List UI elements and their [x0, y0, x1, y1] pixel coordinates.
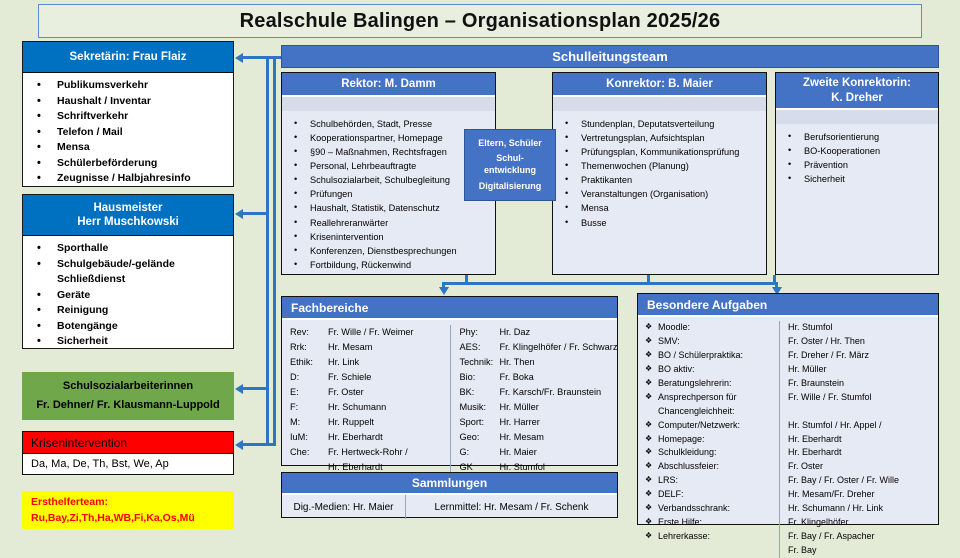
list-item: LRS: — [638, 474, 779, 488]
zweite-konrektorin-header: Zweite Konrektorin: K. Dreher — [776, 73, 938, 108]
list-item: Reallehreranwärter — [282, 216, 495, 230]
list-item: Schriftverkehr — [23, 109, 233, 125]
list-item: Beratungslehrerin: — [638, 377, 779, 391]
ersthelferteam-members: Ru,Bay,Zi,Th,Ha,WB,Fi,Ka,Os,Mü — [31, 510, 233, 526]
list-item: Krisenintervention — [282, 230, 495, 244]
list-item-value: Fr. Dreher / Fr. März — [788, 349, 938, 363]
besondere-aufgaben-tasks: Moodle: SMV: BO / Schülerpraktika: BO ak… — [638, 321, 780, 558]
list-item-value: Hr. Müller — [788, 363, 938, 377]
list-item: Botengänge — [23, 319, 233, 335]
list-item: Busse — [553, 216, 766, 230]
table-row: AES:Fr. Klingelhöfer / Fr. Schwarz — [460, 340, 618, 355]
konrektor-list: Stundenplan, Deputatsverteilung Vertretu… — [553, 111, 766, 230]
fachbereiche-columns: Rev:Fr. Wille / Fr. Weimer Rrk:Hr. Mesam… — [282, 320, 617, 490]
fachbereiche-column-right: Phy:Hr. Daz AES:Fr. Klingelhöfer / Fr. S… — [450, 325, 618, 490]
list-item: Computer/Netzwerk: — [638, 419, 779, 433]
list-item: SMV: — [638, 335, 779, 349]
list-item: Schließdienst — [23, 272, 233, 288]
ersthelferteam-title: Ersthelferteam: — [31, 494, 233, 510]
connector-krise-riser — [273, 56, 276, 446]
hausmeister-header-line2: Herr Muschkowski — [77, 215, 179, 229]
organigram-canvas: Realschule Balingen – Organisationsplan … — [0, 0, 960, 540]
list-item: Erste Hilfe: — [638, 516, 779, 530]
table-row: F:Hr. Schumann — [290, 400, 450, 415]
subject-key: Che: — [290, 445, 328, 460]
subject-teacher: Hr. Mesam — [328, 340, 372, 355]
zweite-konrektorin-header-line1: Zweite Konrektorin: — [803, 76, 911, 91]
table-row: E:Fr. Oster — [290, 385, 450, 400]
subject-key: IuM: — [290, 430, 328, 445]
konrektor-header: Konrektor: B. Maier — [553, 73, 766, 95]
list-item: Sicherheit — [776, 172, 938, 186]
subject-teacher: Fr. Schiele — [328, 370, 371, 385]
subject-key: Rrk: — [290, 340, 328, 355]
connector-to-krise — [243, 443, 276, 446]
table-row: G:Hr. Maier — [460, 445, 618, 460]
overlay-line2: Schul- — [496, 153, 524, 165]
card-fachbereiche: Fachbereiche Rev:Fr. Wille / Fr. Weimer … — [281, 296, 618, 466]
list-item: Konferenzen, Dienstbesprechungen — [282, 244, 495, 258]
list-item: Fortbildung, Rückenwind — [282, 258, 495, 272]
list-item: Haushalt / Inventar — [23, 94, 233, 110]
sammlungen-cell-digitale-medien: Dig.-Medien: Hr. Maier — [282, 495, 406, 519]
list-item: Reinigung — [23, 303, 233, 319]
list-item: BO aktiv: — [638, 363, 779, 377]
connector-to-schulsozialarbeit — [243, 387, 269, 390]
subject-teacher: Hr. Eberhardt — [328, 430, 383, 445]
subject-teacher: Hr. Schumann — [328, 400, 386, 415]
krisenintervention-members: Da, Ma, De, Th, Bst, We, Ap — [22, 453, 234, 475]
list-item-value: Hr. Mesam/Fr. Dreher — [788, 488, 938, 502]
connector-bus-horizontal — [442, 282, 778, 285]
list-item: Veranstaltungen (Organisation) — [553, 187, 766, 201]
list-item-value: Fr. Bay — [788, 544, 938, 558]
table-row: IuM:Hr. Eberhardt — [290, 430, 450, 445]
table-row: Bio:Fr. Boka — [460, 370, 618, 385]
schulleitungsteam-bar: Schulleitungsteam — [281, 45, 939, 68]
list-item: Moodle: — [638, 321, 779, 335]
list-item-value: Fr. Oster — [788, 460, 938, 474]
sekretariat-list: Publikumsverkehr Haushalt / Inventar Sch… — [23, 73, 233, 191]
overlay-line4: Digitalisierung — [479, 181, 542, 193]
card-zweite-konrektorin: Zweite Konrektorin: K. Dreher Berufsorie… — [775, 72, 939, 275]
table-row: Ethik:Hr. Link — [290, 355, 450, 370]
subject-teacher: Hr. Maier — [500, 445, 537, 460]
list-item: Publikumsverkehr — [23, 78, 233, 94]
subject-teacher: Fr. Hertweck-Rohr / — [328, 445, 408, 460]
card-sekretariat: Sekretärin: Frau Flaiz Publikumsverkehr … — [22, 41, 234, 187]
list-item: Homepage: — [638, 433, 779, 447]
subject-teacher: Fr. Karsch/Fr. Braunstein — [500, 385, 602, 400]
list-item-value: Hr. Stumfol / Hr. Appel / — [788, 419, 938, 433]
subject-key: Musik: — [460, 400, 500, 415]
subject-key: G: — [460, 445, 500, 460]
list-item: Themenwochen (Planung) — [553, 159, 766, 173]
besondere-aufgaben-persons: Hr. Stumfol Fr. Oster / Hr. Then Fr. Dre… — [780, 321, 938, 558]
zweite-konrektorin-header-line2: K. Dreher — [831, 91, 883, 106]
list-item: Haushalt, Statistik, Datenschutz — [282, 201, 495, 215]
list-item: Berufsorientierung — [776, 130, 938, 144]
list-item: Chancengleichheit: — [638, 405, 779, 419]
list-item-value: Fr. Bay / Fr. Oster / Fr. Wille — [788, 474, 938, 488]
subject-key: F: — [290, 400, 328, 415]
subject-teacher: Fr. Klingelhöfer / Fr. Schwarz — [500, 340, 618, 355]
hausmeister-header: Hausmeister Herr Muschkowski — [23, 195, 233, 236]
list-item-value: Fr. Klingelhöfer — [788, 516, 938, 530]
list-item: Geräte — [23, 288, 233, 304]
list-item-value: Hr. Schumann / Hr. Link — [788, 502, 938, 516]
besondere-aufgaben-header: Besondere Aufgaben — [638, 294, 938, 317]
subject-key: Phy: — [460, 325, 500, 340]
hausmeister-list: Sporthalle Schulgebäude/-gelände Schließ… — [23, 236, 233, 354]
card-schulsozialarbeit: Schulsozialarbeiterinnen Fr. Dehner/ Fr.… — [22, 372, 234, 420]
subject-key: AES: — [460, 340, 500, 355]
krisenintervention-header: Krisenintervention — [22, 431, 234, 453]
list-item: Schülerbeförderung — [23, 156, 233, 172]
subject-teacher: Hr. Then — [500, 355, 535, 370]
arrow-hausmeister-icon — [235, 209, 243, 219]
list-item: Sporthalle — [23, 241, 233, 257]
list-item: Zeugnisse / Halbjahresinfo — [23, 171, 233, 187]
rektor-header: Rektor: M. Damm — [282, 73, 495, 95]
list-item: Telefon / Mail — [23, 125, 233, 141]
subject-teacher: Hr. Daz — [500, 325, 531, 340]
arrow-sekretariat-icon — [235, 53, 243, 63]
fachbereiche-header: Fachbereiche — [282, 297, 617, 320]
page-title-text: Realschule Balingen – Organisationsplan … — [240, 10, 721, 33]
besondere-aufgaben-body: Moodle: SMV: BO / Schülerpraktika: BO ak… — [638, 317, 938, 558]
table-row: D:Fr. Schiele — [290, 370, 450, 385]
list-item: Ansprechperson für — [638, 391, 779, 405]
table-row: Musik:Hr. Müller — [460, 400, 618, 415]
list-item-value: Hr. Eberhardt — [788, 446, 938, 460]
subject-teacher: Hr. Harrer — [500, 415, 540, 430]
list-item: Sicherheit — [23, 334, 233, 350]
konrektor-strip — [553, 95, 766, 111]
subject-teacher: Hr. Müller — [500, 400, 539, 415]
page-title: Realschule Balingen – Organisationsplan … — [38, 4, 922, 38]
table-row: Technik:Hr. Then — [460, 355, 618, 370]
subject-teacher: Hr. Ruppelt — [328, 415, 374, 430]
list-item: DELF: — [638, 488, 779, 502]
card-besondere-aufgaben: Besondere Aufgaben Moodle: SMV: BO / Sch… — [637, 293, 939, 525]
overlay-line1: Eltern, Schüler — [478, 138, 542, 150]
overlay-line3: entwicklung — [484, 165, 536, 177]
table-row: Geo:Hr. Mesam — [460, 430, 618, 445]
list-item: Stundenplan, Deputatsverteilung — [553, 117, 766, 131]
table-row: BK:Fr. Karsch/Fr. Braunstein — [460, 385, 618, 400]
table-row: Rev:Fr. Wille / Fr. Weimer — [290, 325, 450, 340]
arrow-fachbereiche-icon — [439, 287, 449, 295]
sekretariat-header: Sekretärin: Frau Flaiz — [23, 42, 233, 73]
card-konrektor: Konrektor: B. Maier Stundenplan, Deputat… — [552, 72, 767, 275]
subject-key: Technik: — [460, 355, 500, 370]
subject-key: Sport: — [460, 415, 500, 430]
subject-key: Bio: — [460, 370, 500, 385]
sammlungen-row: Dig.-Medien: Hr. Maier Lernmittel: Hr. M… — [282, 495, 617, 519]
list-item-value: Fr. Braunstein — [788, 377, 938, 391]
list-item: BO / Schülerpraktika: — [638, 349, 779, 363]
subject-key: BK: — [460, 385, 500, 400]
arrow-krise-icon — [235, 440, 243, 450]
table-row: Rrk:Hr. Mesam — [290, 340, 450, 355]
card-hausmeister: Hausmeister Herr Muschkowski Sporthalle … — [22, 194, 234, 349]
subject-key: Geo: — [460, 430, 500, 445]
list-item-value: Hr. Stumfol — [788, 321, 938, 335]
subject-teacher: Fr. Oster — [328, 385, 364, 400]
subject-teacher: Fr. Boka — [500, 370, 534, 385]
subject-teacher: Hr. Link — [328, 355, 359, 370]
table-row: Sport:Hr. Harrer — [460, 415, 618, 430]
card-ersthelferteam: Ersthelferteam: Ru,Bay,Zi,Th,Ha,WB,Fi,Ka… — [22, 491, 234, 529]
list-item: Prävention — [776, 158, 938, 172]
table-row: Che:Fr. Hertweck-Rohr / — [290, 445, 450, 460]
list-item: Praktikanten — [553, 173, 766, 187]
sammlungen-cell-lernmittel: Lernmittel: Hr. Mesam / Fr. Schenk — [406, 495, 617, 519]
list-item: Prüfungsplan, Kommunikationsprüfung — [553, 145, 766, 159]
zweite-konrektorin-list: Berufsorientierung BO-Kooperationen Präv… — [776, 124, 938, 186]
schulsozialarbeit-line1: Schulsozialarbeiterinnen — [63, 377, 193, 396]
list-item-value: Fr. Bay / Fr. Aspacher — [788, 530, 938, 544]
schulsozialarbeit-line2: Fr. Dehner/ Fr. Klausmann-Luppold — [36, 396, 219, 415]
subject-key: D: — [290, 370, 328, 385]
subject-key: M: — [290, 415, 328, 430]
hausmeister-header-line1: Hausmeister — [93, 201, 162, 215]
shared-tasks-overlay: Eltern, Schüler Schul- entwicklung Digit… — [464, 129, 556, 201]
list-item: Schulkleidung: — [638, 446, 779, 460]
subject-key: Rev: — [290, 325, 328, 340]
sammlungen-header: Sammlungen — [282, 473, 617, 495]
subject-key: E: — [290, 385, 328, 400]
list-item: Abschlussfeier: — [638, 460, 779, 474]
subject-teacher: Fr. Wille / Fr. Weimer — [328, 325, 414, 340]
list-item: Mensa — [553, 201, 766, 215]
fachbereiche-column-left: Rev:Fr. Wille / Fr. Weimer Rrk:Hr. Mesam… — [282, 325, 450, 490]
list-item: Mensa — [23, 140, 233, 156]
list-item-value: Fr. Oster / Hr. Then — [788, 335, 938, 349]
list-item: Verbandsschrank: — [638, 502, 779, 516]
list-item: Lehrerkasse: — [638, 530, 779, 544]
list-item-value: Fr. Wille / Fr. Stumfol — [788, 391, 938, 405]
subject-key: Ethik: — [290, 355, 328, 370]
list-item: BO-Kooperationen — [776, 144, 938, 158]
subject-teacher: Hr. Mesam — [500, 430, 544, 445]
list-item-value: Hr. Eberhardt — [788, 433, 938, 447]
list-item: Vertretungsplan, Aufsichtsplan — [553, 131, 766, 145]
zweite-konrektorin-strip — [776, 108, 938, 124]
table-row: M:Hr. Ruppelt — [290, 415, 450, 430]
rektor-strip — [282, 95, 495, 111]
list-item: Schulgebäude/-gelände — [23, 257, 233, 273]
connector-to-hausmeister — [243, 212, 269, 215]
table-row: Phy:Hr. Daz — [460, 325, 618, 340]
arrow-schulsozialarbeit-icon — [235, 384, 243, 394]
card-sammlungen: Sammlungen Dig.-Medien: Hr. Maier Lernmi… — [281, 472, 618, 518]
